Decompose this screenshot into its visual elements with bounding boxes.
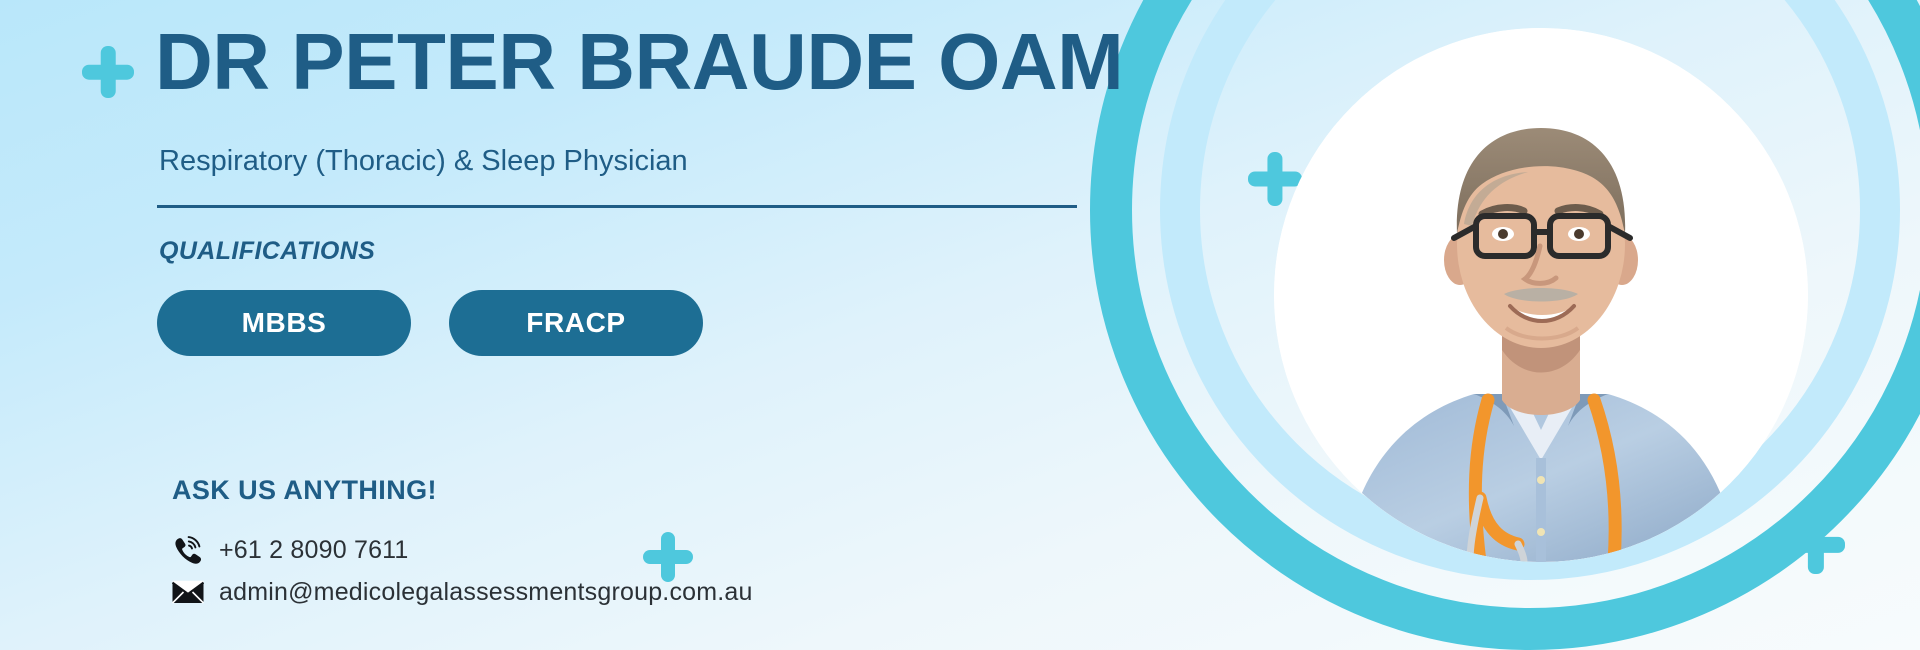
contact-row-email[interactable]: admin@medicolegalassessmentsgroup.com.au	[171, 577, 753, 607]
qualification-badge-mbbs[interactable]: MBBS	[157, 290, 411, 356]
doctor-specialty: Respiratory (Thoracic) & Sleep Physician	[159, 145, 688, 178]
qualifications-label: QUALIFICATIONS	[159, 237, 375, 266]
email-icon	[171, 577, 205, 607]
doctor-profile-banner: Portrait of Dr Peter Braude wearing glas…	[0, 0, 1920, 650]
doctor-portrait: Portrait of Dr Peter Braude wearing glas…	[1274, 28, 1808, 562]
phone-number: +61 2 8090 7611	[219, 536, 409, 565]
qualification-badge-list: MBBS FRACP	[157, 290, 703, 356]
banner-content: DR PETER BRAUDE OAM Respiratory (Thoraci…	[155, 0, 1255, 650]
contact-row-phone[interactable]: +61 2 8090 7611	[171, 535, 753, 565]
doctor-name-heading: DR PETER BRAUDE OAM	[155, 22, 1123, 102]
ask-us-anything-heading: ASK US ANYTHING!	[172, 475, 437, 506]
qualification-badge-fracp[interactable]: FRACP	[449, 290, 703, 356]
doctor-portrait-image: Portrait of Dr Peter Braude wearing glas…	[1274, 28, 1808, 562]
phone-icon	[171, 535, 205, 565]
plus-icon-bottom-right	[1787, 516, 1845, 574]
contact-list: +61 2 8090 7611 admin@medicolegalassessm…	[171, 535, 753, 607]
plus-icon-top-left	[82, 46, 134, 98]
email-address: admin@medicolegalassessmentsgroup.com.au	[219, 578, 753, 607]
section-divider	[157, 205, 1077, 208]
